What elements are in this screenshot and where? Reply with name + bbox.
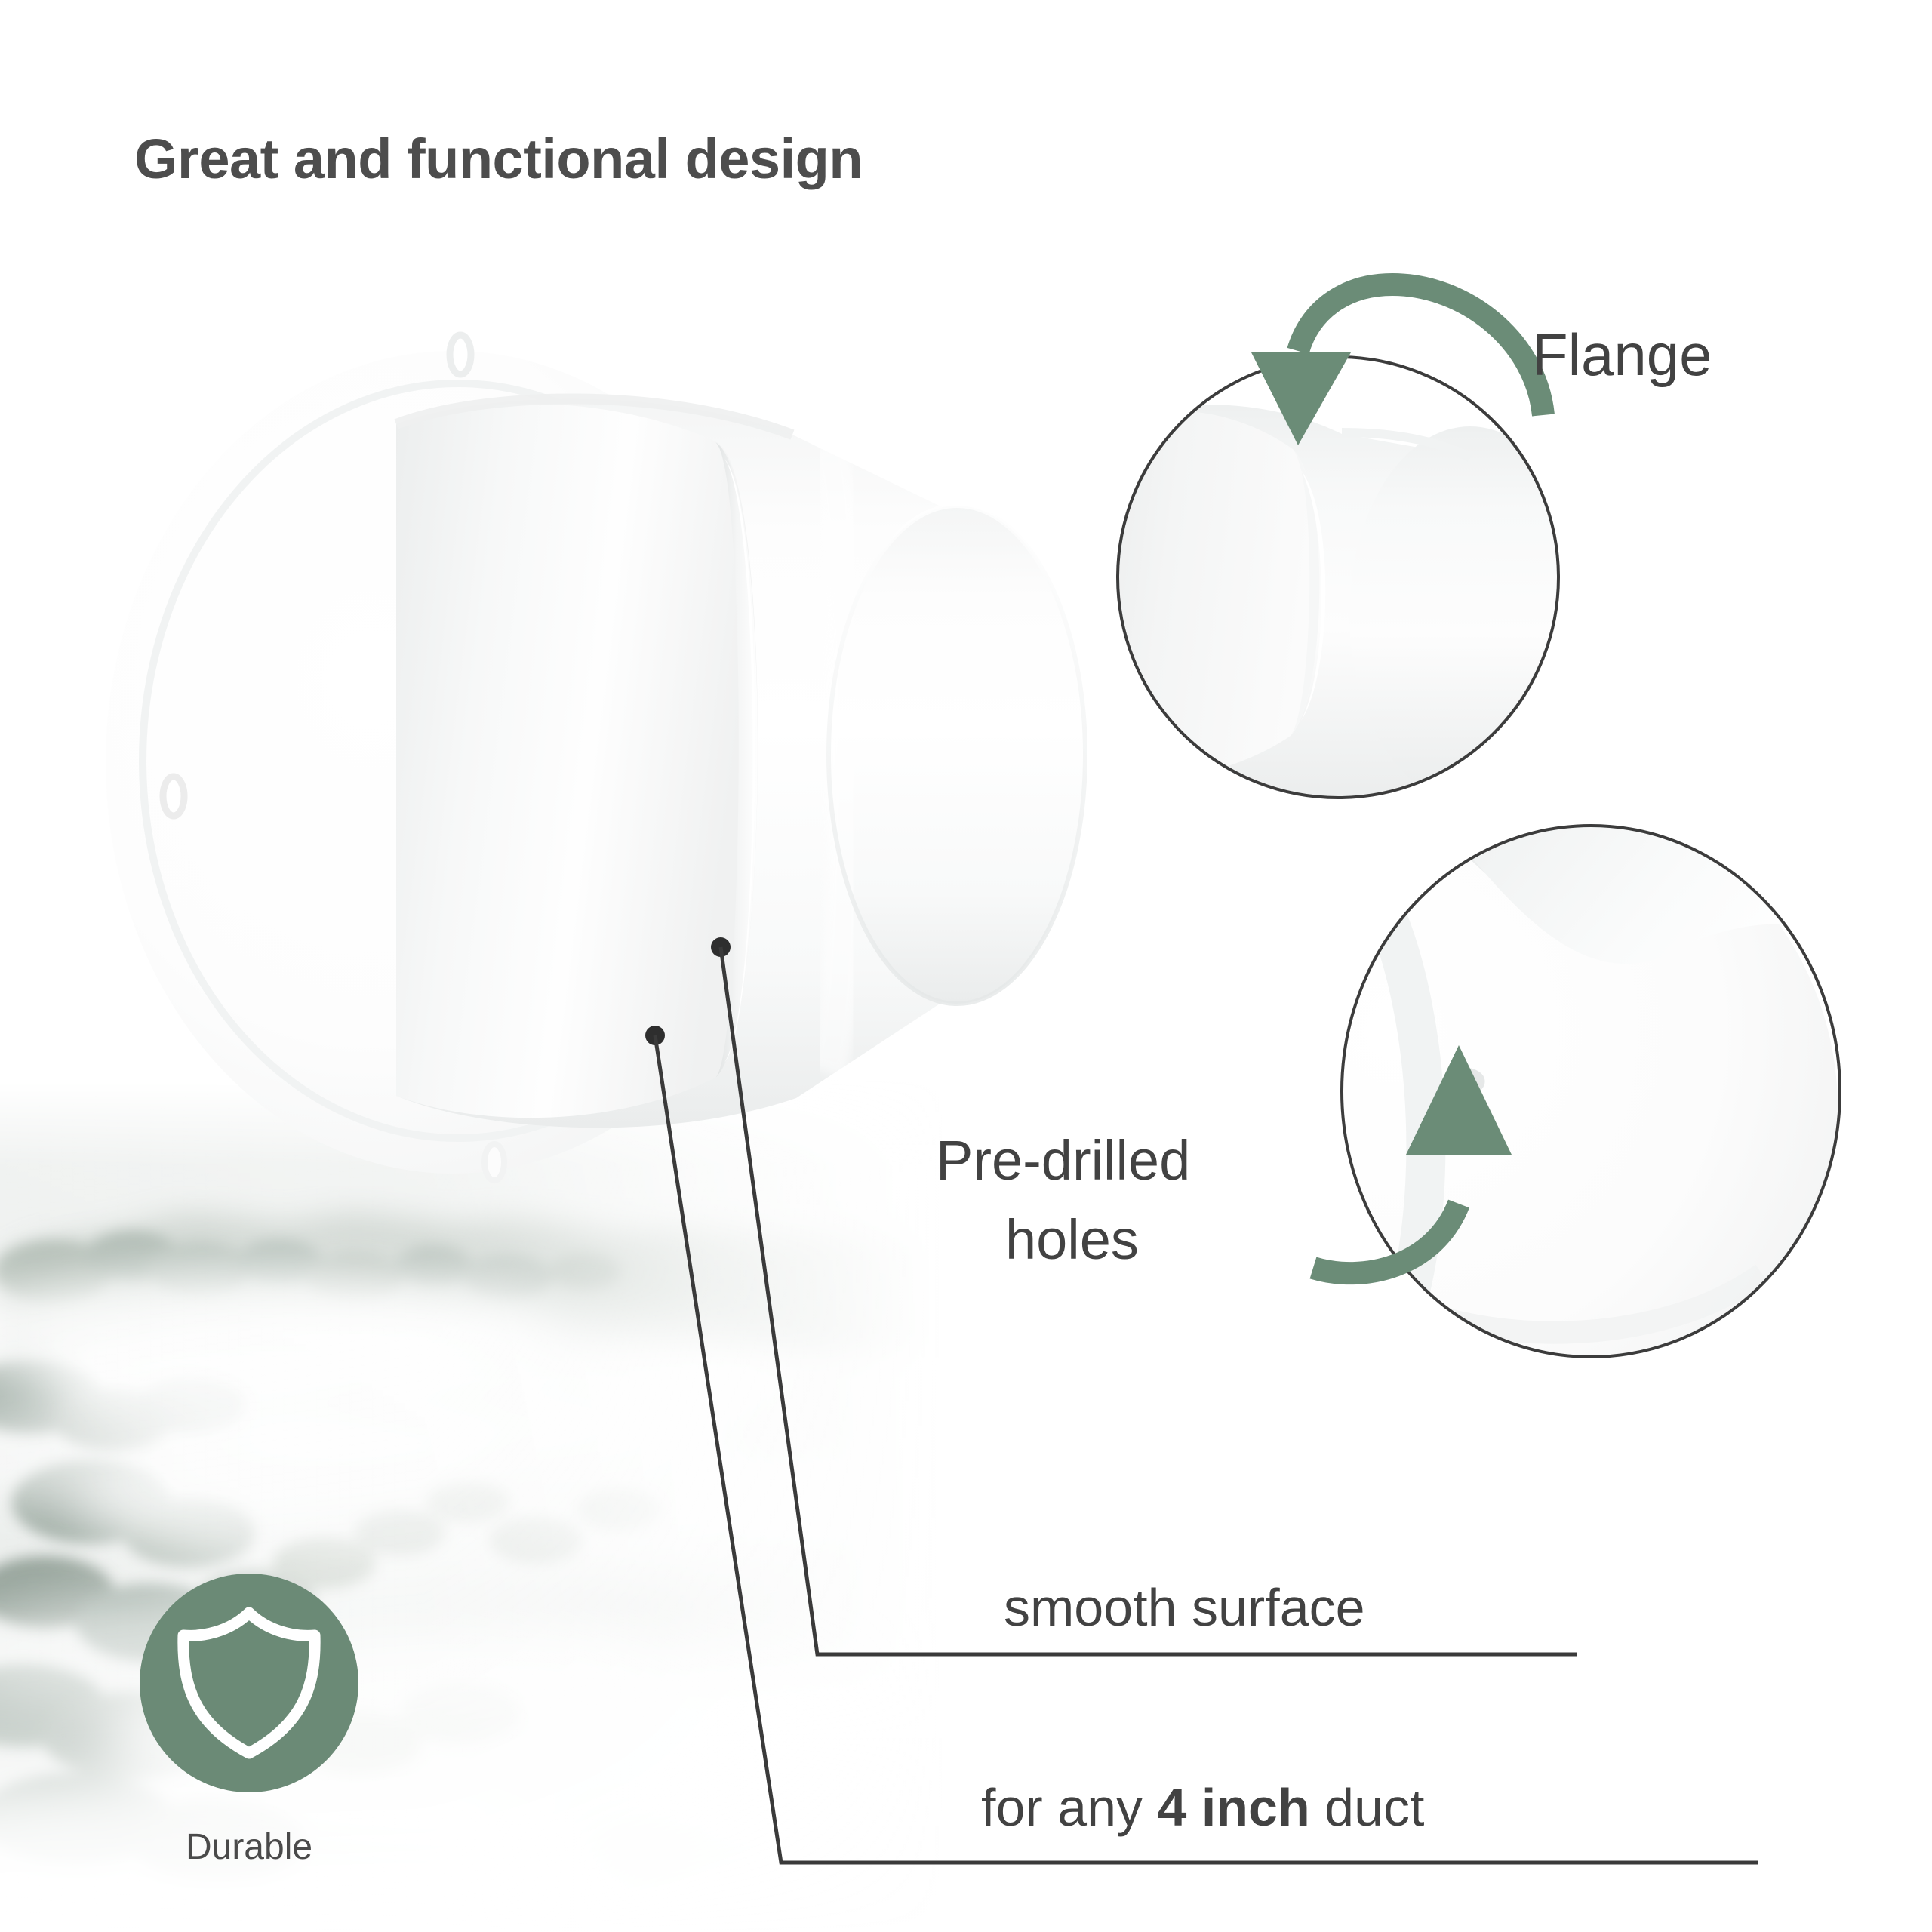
predrilled-hole-arrow-icon — [1309, 1041, 1581, 1291]
flange-arrow-icon — [1238, 268, 1555, 494]
infographic-canvas: Great and functional design — [0, 0, 1932, 1932]
callout-label-flange: Flange — [1532, 321, 1712, 389]
durable-badge — [140, 1574, 358, 1792]
duct-label-prefix: for any — [981, 1778, 1157, 1837]
callout-label-predrilled-line2: holes — [1005, 1207, 1139, 1272]
product-image-duct-flange — [91, 287, 1087, 1238]
page-title: Great and functional design — [134, 127, 863, 191]
callout-label-smooth-surface: smooth surface — [1004, 1577, 1365, 1638]
callout-label-predrilled-line1: Pre-drilled — [936, 1128, 1190, 1192]
duct-label-strong: 4 inch — [1157, 1778, 1309, 1837]
duct-label-suffix: duct — [1310, 1778, 1425, 1837]
callout-label-duct-size: for any 4 inch duct — [981, 1777, 1425, 1838]
badge-circle — [140, 1574, 358, 1792]
durable-badge-label: Durable — [128, 1826, 370, 1868]
